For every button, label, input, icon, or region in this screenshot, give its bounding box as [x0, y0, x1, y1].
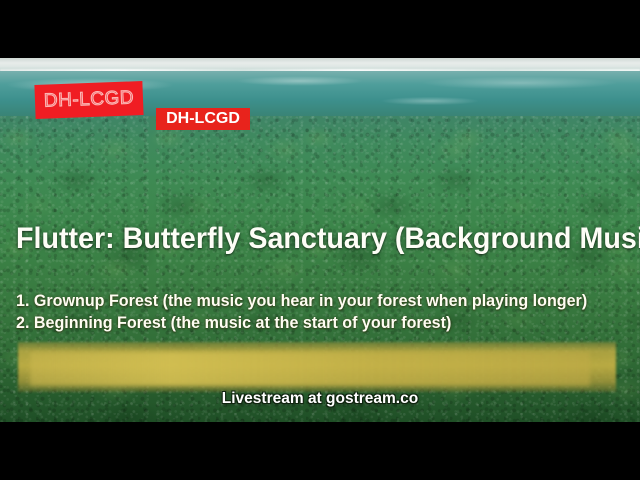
- golden-canopy-highlight: [30, 352, 590, 386]
- watermark-outline: DH-LCGD: [34, 81, 143, 119]
- video-title: Flutter: Butterfly Sanctuary (Background…: [16, 222, 600, 256]
- watermark-solid-label: DH-LCGD: [166, 110, 240, 128]
- forest-canopy: [0, 116, 640, 422]
- letterbox-bar-top: [0, 0, 640, 58]
- video-player-stage: DH-LCGD DH-LCGD Flutter: Butterfly Sanct…: [0, 0, 640, 480]
- watermark-outline-label: DH-LCGD: [44, 87, 135, 112]
- track-list-item-2: 2. Beginning Forest (the music at the st…: [16, 312, 611, 334]
- track-list-item-1: 1. Grownup Forest (the music you hear in…: [16, 290, 611, 312]
- watermark-solid: DH-LCGD: [156, 108, 250, 130]
- track-list: 1. Grownup Forest (the music you hear in…: [16, 290, 626, 334]
- letterbox-bar-bottom: [0, 422, 640, 480]
- livestream-caption: Livestream at gostream.co: [0, 390, 640, 408]
